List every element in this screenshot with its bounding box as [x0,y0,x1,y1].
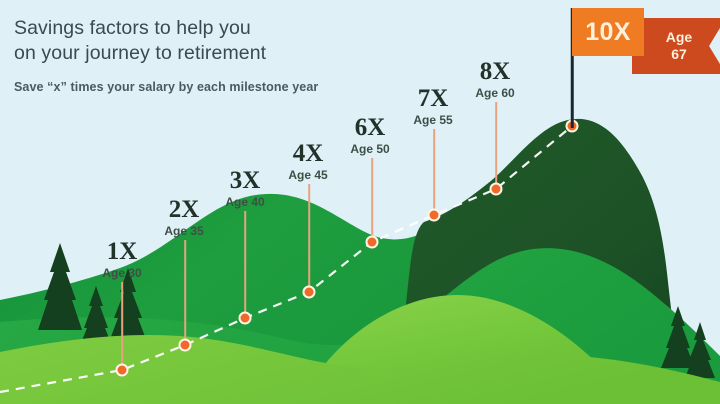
infographic-canvas: Savings factors to help you on your jour… [0,0,720,404]
milestone-age-3: Age 40 [225,196,264,208]
milestone-multiple-6: 7X [413,86,452,111]
flag-age-label: Age [666,29,692,46]
milestone-dot-1[interactable] [116,364,129,377]
leader-line-6 [433,129,435,214]
milestone-dot-3[interactable] [239,312,252,325]
leader-line-4 [308,184,310,291]
milestone-multiple-3: 3X [225,168,264,193]
flag-age-value: 67 [671,46,687,63]
milestone-dot-6[interactable] [428,209,441,222]
milestone-multiple-2: 2X [164,197,203,222]
leader-line-7 [495,102,497,188]
leader-line-5 [371,158,373,241]
milestone-label-4: 4X Age 45 [288,141,327,181]
milestone-dot-2[interactable] [179,339,192,352]
title-line-1: Savings factors to help you [14,17,251,39]
summit-flag[interactable]: 10X Age 67 [572,8,720,74]
milestone-multiple-4: 4X [288,141,327,166]
milestone-age-4: Age 45 [288,169,327,181]
milestone-multiple-5: 6X [350,115,389,140]
leader-line-1 [121,282,123,368]
milestone-age-5: Age 50 [350,143,389,155]
milestone-label-7: 8X Age 60 [475,59,514,99]
milestone-age-6: Age 55 [413,114,452,126]
page-title: Savings factors to help you on your jour… [14,16,434,66]
milestone-age-2: Age 35 [164,225,203,237]
milestone-label-2: 2X Age 35 [164,197,203,237]
milestone-dot-5[interactable] [366,236,379,249]
flag-multiple-badge: 10X [572,8,644,56]
milestone-multiple-1: 1X [102,239,141,264]
milestone-dot-7[interactable] [490,183,503,196]
milestone-age-1: Age 30 [102,267,141,279]
milestone-dot-4[interactable] [303,286,316,299]
title-line-2: on your journey to retirement [14,41,434,66]
leader-line-3 [244,211,246,317]
milestone-label-3: 3X Age 40 [225,168,264,208]
leader-line-2 [184,240,186,344]
milestone-age-7: Age 60 [475,87,514,99]
milestone-label-6: 7X Age 55 [413,86,452,126]
flag-age-banner: Age 67 [632,18,720,74]
milestone-label-5: 6X Age 50 [350,115,389,155]
milestone-multiple-7: 8X [475,59,514,84]
page-subtitle: Save “x” times your salary by each miles… [14,80,454,94]
milestone-label-1: 1X Age 30 [102,239,141,279]
